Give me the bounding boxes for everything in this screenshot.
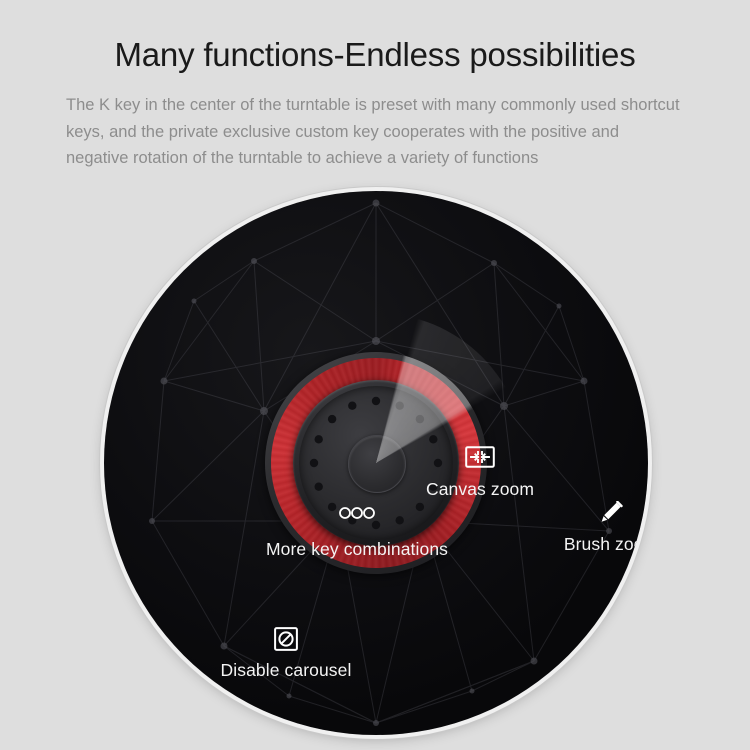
feature-brush-zoom[interactable]: Brush zoom [491, 501, 648, 555]
feature-label: Canvas zoom [426, 479, 534, 500]
feature-canvas-zoom[interactable]: Canvas zoom [360, 446, 600, 500]
pencil-icon [599, 501, 623, 527]
page-description: The K key in the center of the turntable… [0, 74, 750, 172]
page-title: Many functions-Endless possibilities [0, 0, 750, 74]
feature-disable-carousel[interactable]: Disable carousel [166, 627, 406, 681]
prohibition-icon [274, 627, 298, 653]
feature-label: Brush zoom [564, 534, 648, 555]
turntable-disc[interactable]: Canvas zoom More key combinations Brush … [104, 191, 648, 735]
feature-label: Disable carousel [221, 660, 352, 681]
more-dots-icon [338, 506, 376, 532]
feature-label: More key combinations [266, 539, 448, 560]
header-section: Many functions-Endless possibilities The… [0, 0, 750, 172]
feature-more-key-combinations[interactable]: More key combinations [237, 506, 477, 560]
feature-mouse-wheel[interactable]: Mouse wheel [554, 616, 648, 670]
feature-label: Mouse wheel [622, 649, 648, 670]
canvas-zoom-icon [465, 446, 495, 472]
